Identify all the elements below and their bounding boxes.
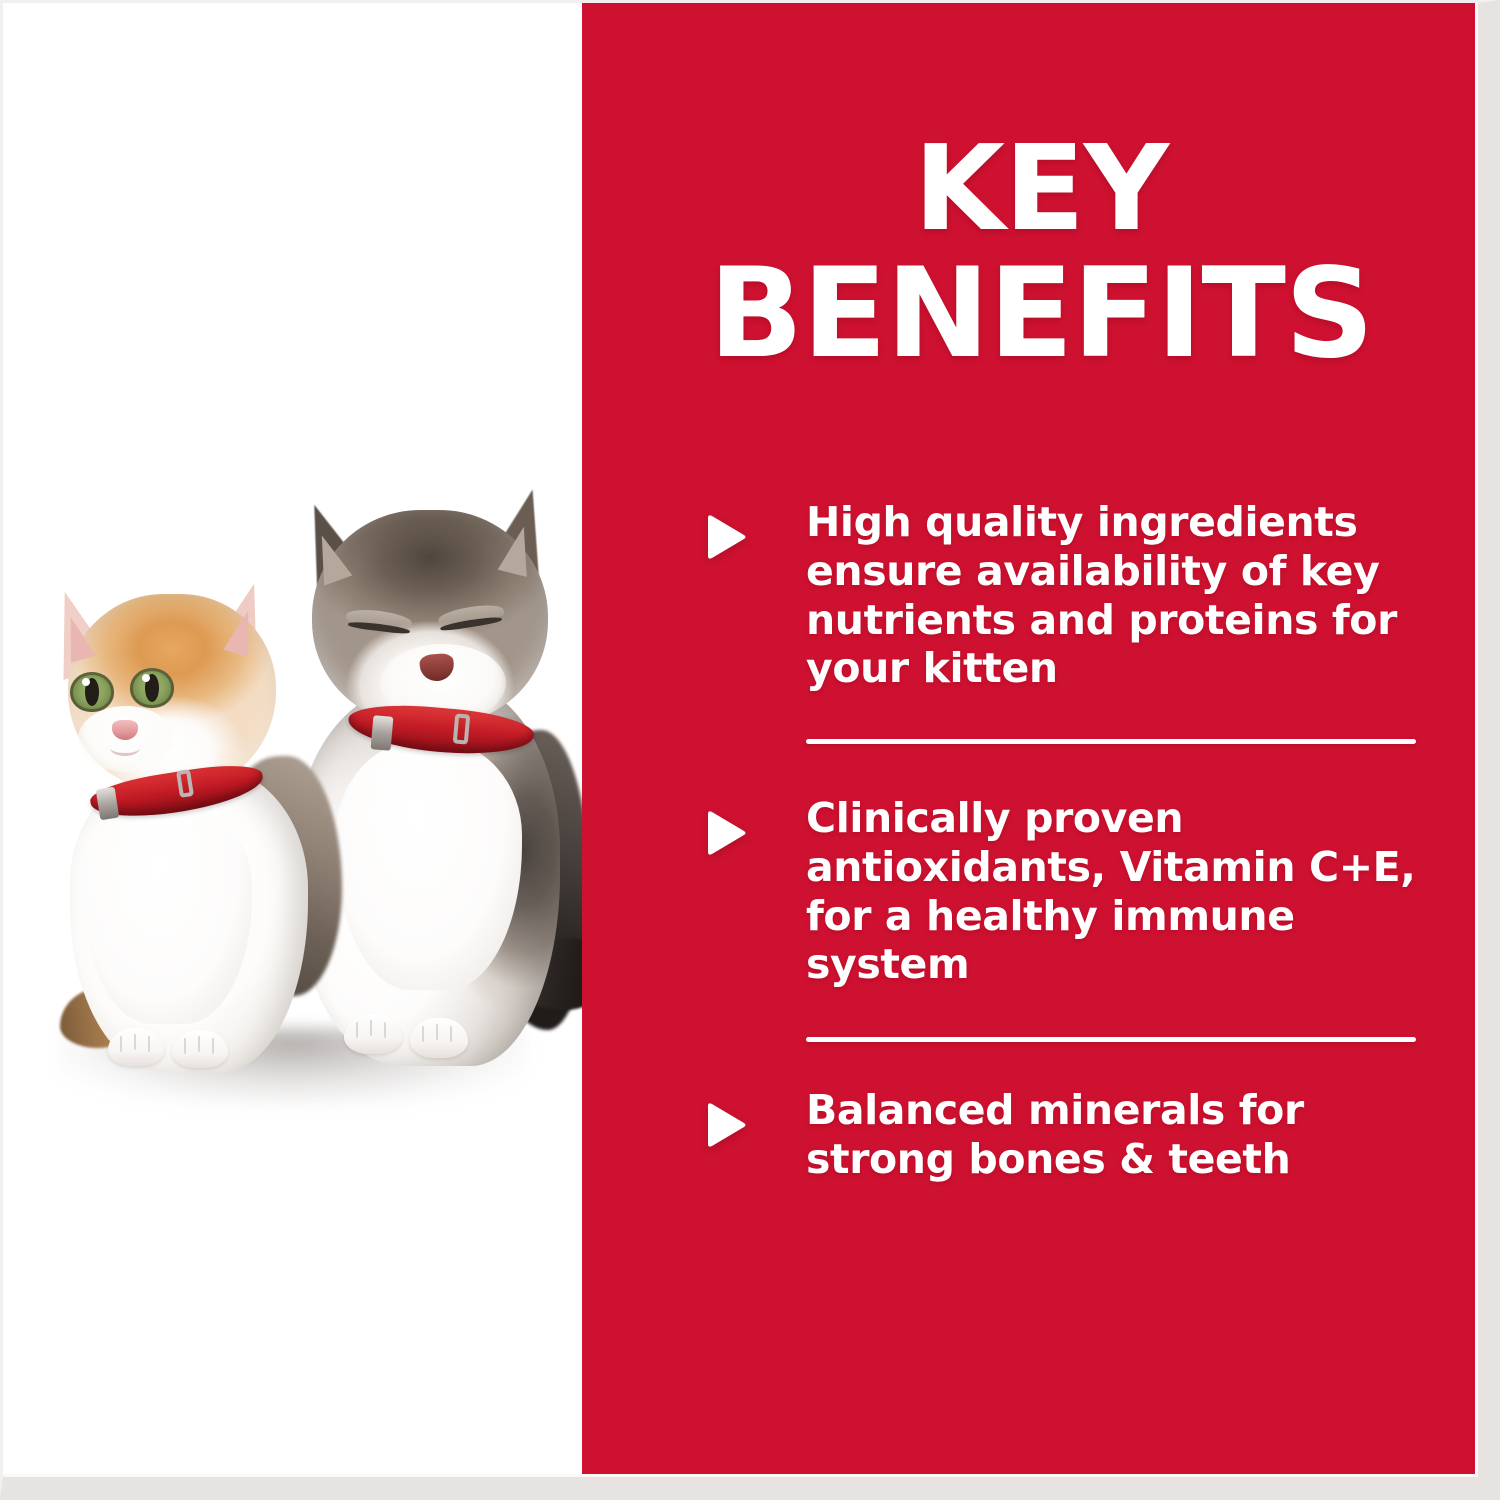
kitten-a-toe xyxy=(184,1038,186,1054)
kitten-b-toe xyxy=(436,1024,438,1040)
benefit-item-balanced-minerals: Balanced minerals for strong bones & tee… xyxy=(700,1086,1436,1184)
kitten-b-toe xyxy=(384,1022,386,1038)
kitten-a-eye-glint-left xyxy=(82,678,90,686)
kitten-b-collar-ring xyxy=(453,713,471,744)
kitten-photo-panel xyxy=(0,0,582,1500)
kitten-a-toe xyxy=(134,1034,136,1050)
play-triangle-icon xyxy=(700,498,758,562)
play-triangle-icon xyxy=(700,794,758,858)
title-line-key: KEY xyxy=(628,132,1454,245)
kitten-b-toe xyxy=(450,1026,452,1042)
kitten-b-paw-right xyxy=(410,1018,468,1058)
kitten-b-collar-buckle xyxy=(371,715,394,751)
orange-tabby-kitten-photo xyxy=(12,560,342,1080)
kitten-a-eye-glint-right xyxy=(142,674,150,682)
title-line-benefits: BENEFITS xyxy=(628,255,1454,374)
kitten-a-toe xyxy=(148,1036,150,1052)
kitten-a-toe xyxy=(198,1036,200,1052)
benefit-item-high-quality-ingredients: High quality ingredients ensure availabi… xyxy=(700,498,1436,693)
benefit-item-clinically-proven-antioxidants: Clinically proven antioxidants, Vitamin … xyxy=(700,794,1436,989)
kitten-a-toe xyxy=(212,1038,214,1054)
kitten-a-toe xyxy=(120,1036,122,1052)
kitten-a-paw-right xyxy=(172,1030,228,1068)
benefit-text-clinically-proven-antioxidants: Clinically proven antioxidants, Vitamin … xyxy=(758,794,1436,989)
kitten-b-toe xyxy=(370,1020,372,1036)
kitten-b-chest xyxy=(336,740,522,990)
key-benefits-title: KEY BENEFITS xyxy=(628,132,1454,374)
benefit-text-high-quality-ingredients: High quality ingredients ensure availabi… xyxy=(758,498,1436,693)
product-benefits-banner: KEY BENEFITS High quality ingredients en… xyxy=(0,0,1500,1500)
key-benefits-panel: KEY BENEFITS High quality ingredients en… xyxy=(582,0,1500,1500)
benefit-text-balanced-minerals: Balanced minerals for strong bones & tee… xyxy=(758,1086,1436,1184)
kitten-a-paw-left xyxy=(108,1028,164,1066)
kitten-a-mouth xyxy=(110,740,140,756)
kitten-a-chest xyxy=(84,804,252,1024)
kitten-b-toe xyxy=(422,1026,424,1042)
kitten-b-toe xyxy=(356,1022,358,1038)
benefits-list: High quality ingredients ensure availabi… xyxy=(700,498,1436,1184)
play-triangle-icon xyxy=(700,1086,758,1150)
kitten-b-paw-left xyxy=(344,1014,402,1054)
